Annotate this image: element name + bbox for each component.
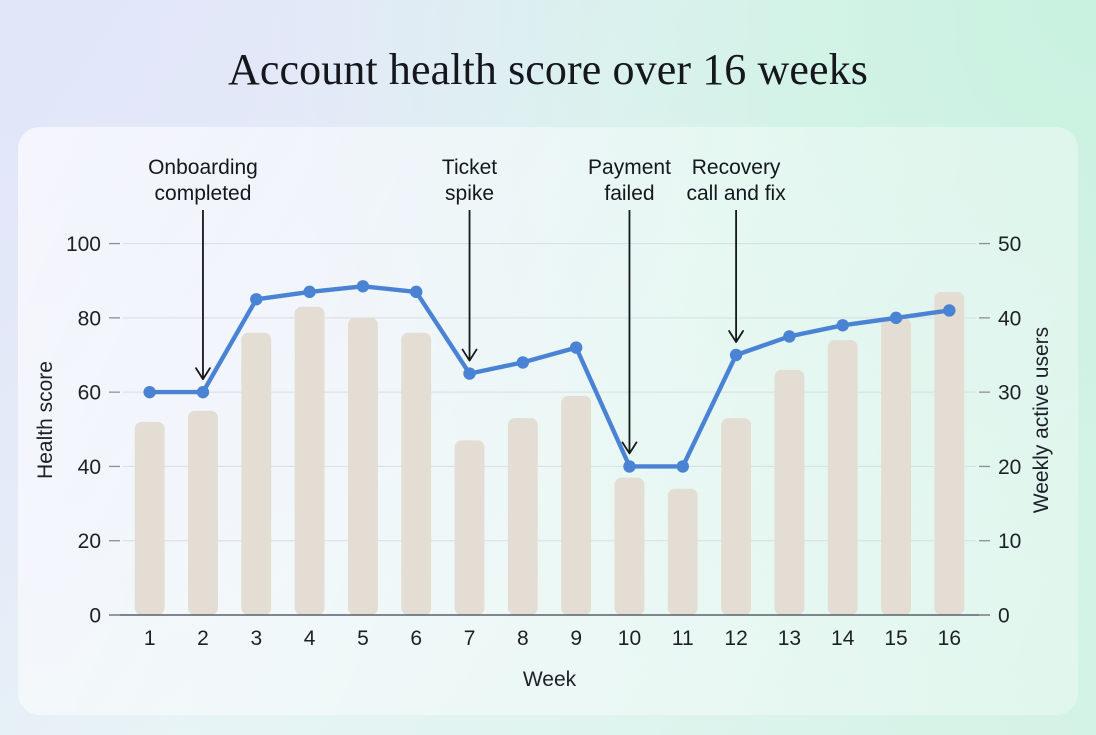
chart-card (18, 127, 1078, 715)
page-title: Account health score over 16 weeks (0, 44, 1096, 95)
